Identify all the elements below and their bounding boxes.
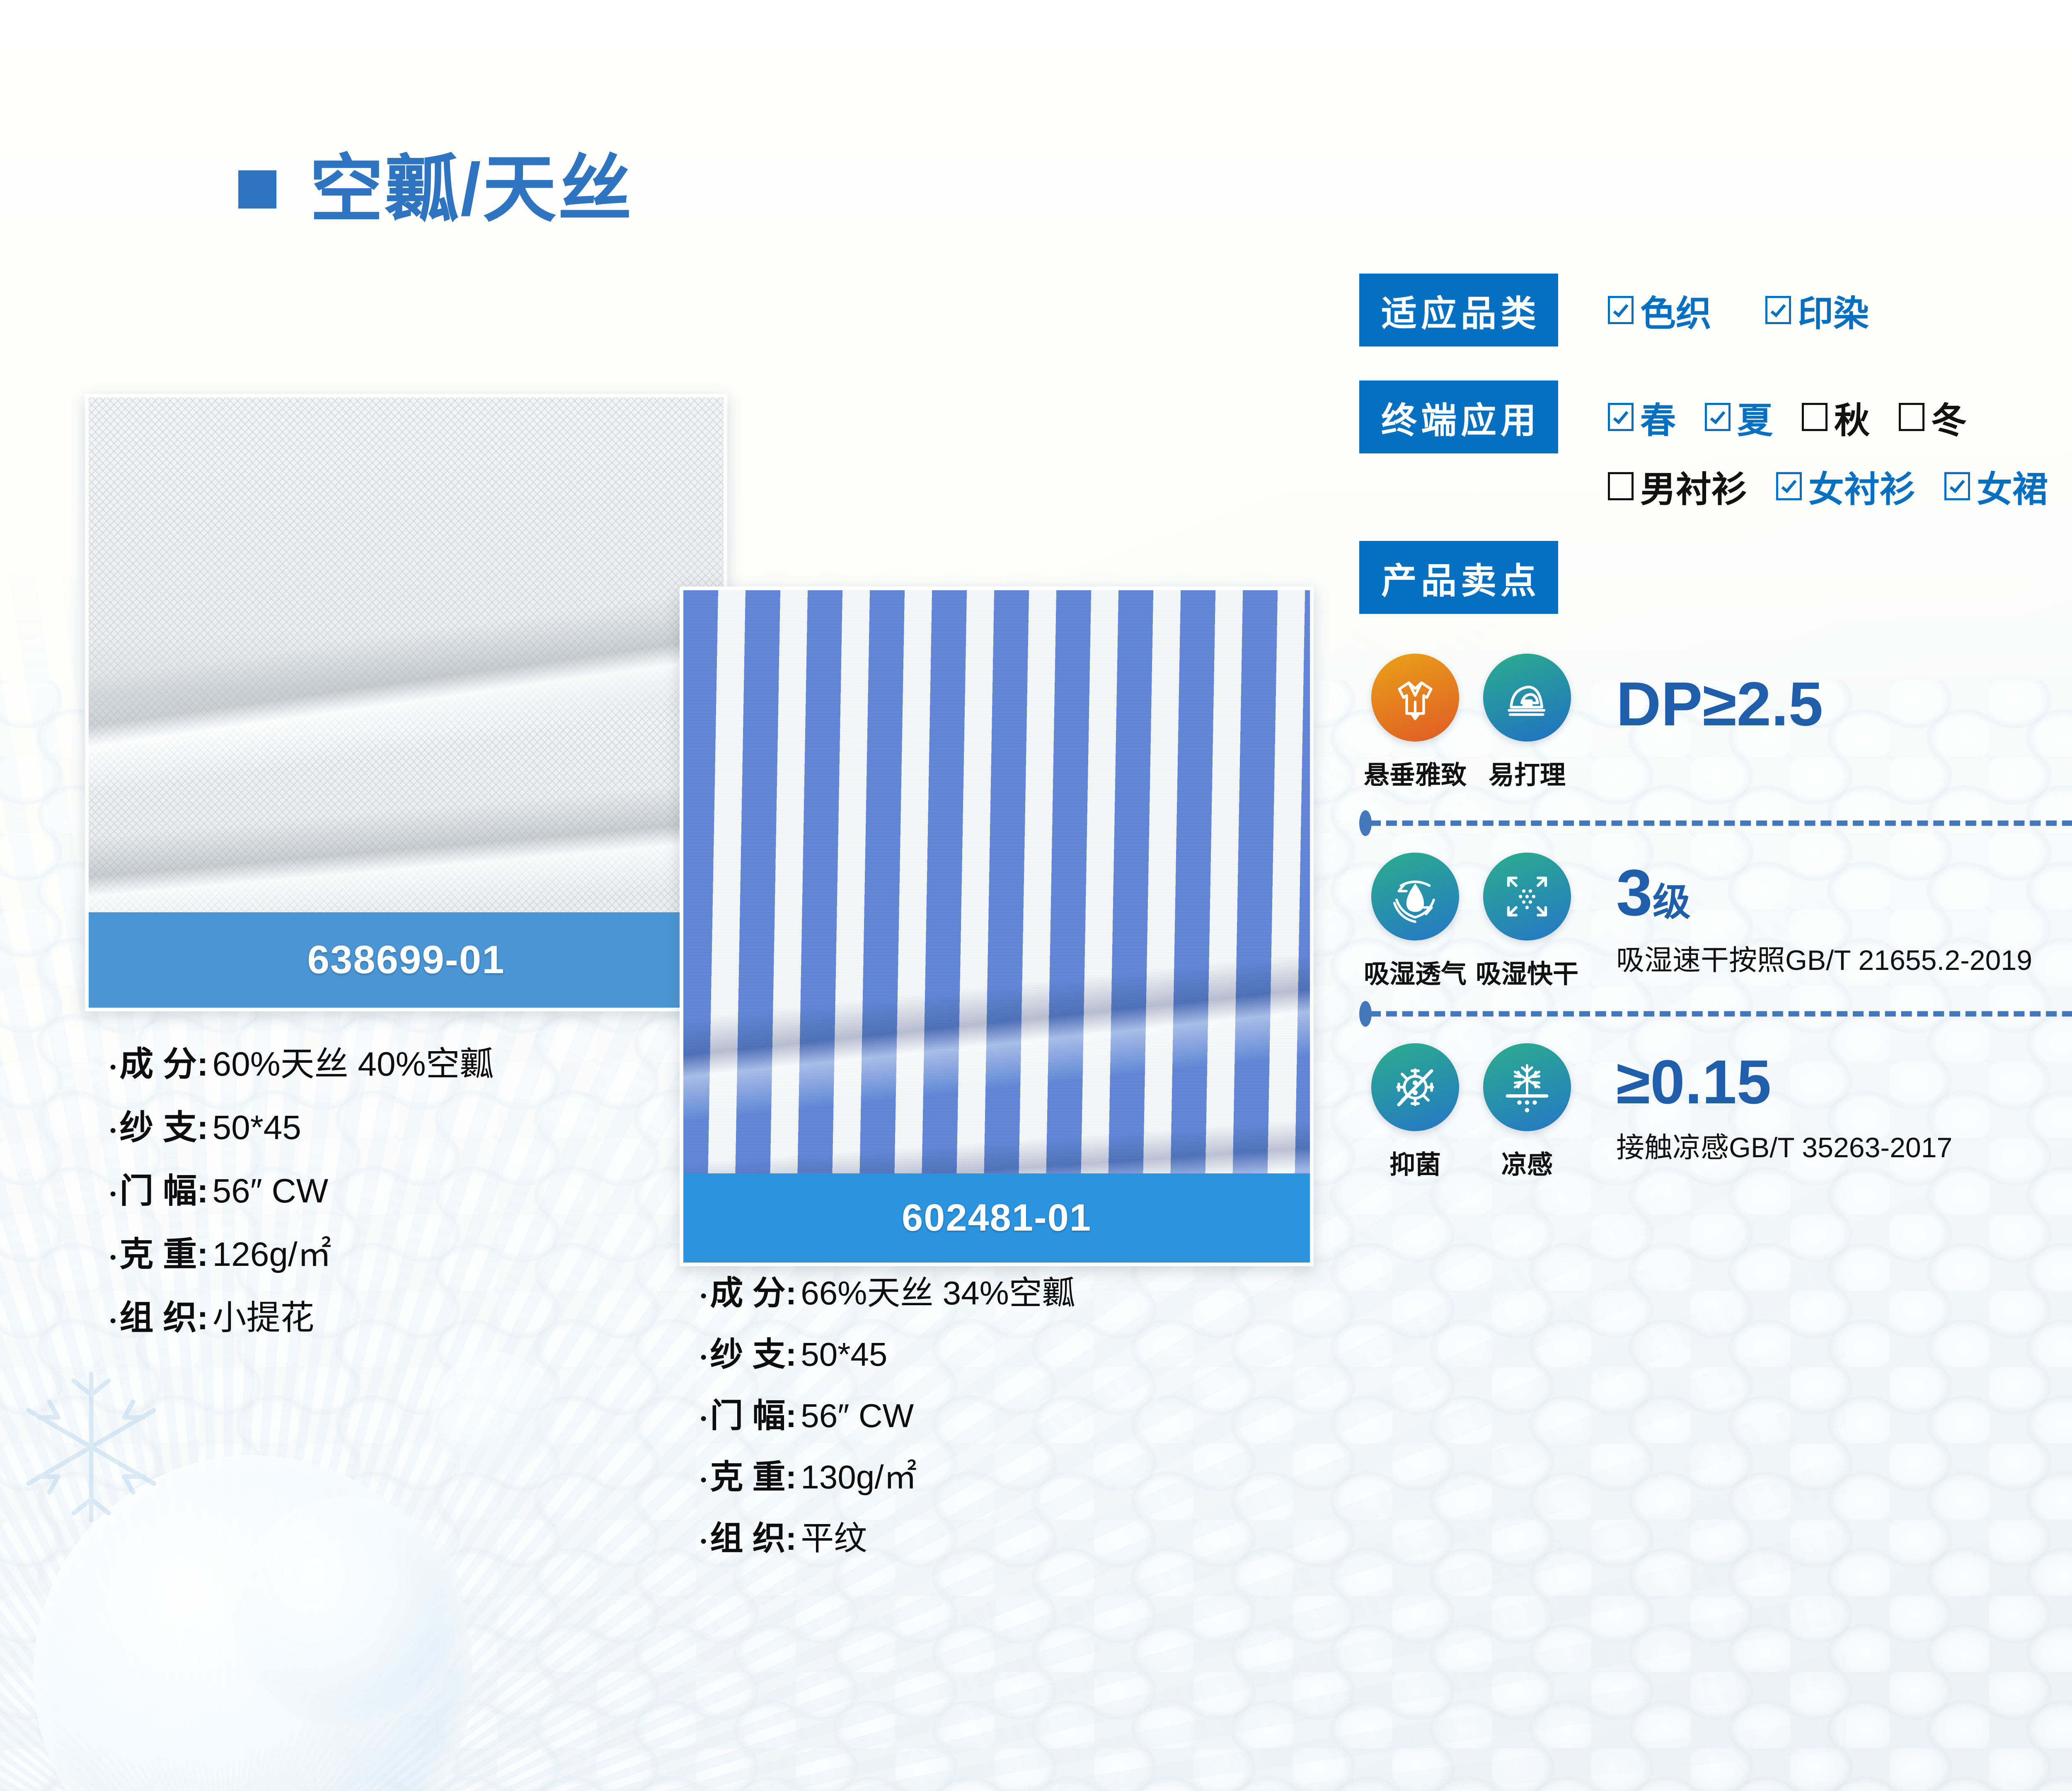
- spec-key: 纱 支:: [119, 1100, 208, 1149]
- feature-row: 抑菌: [1359, 1043, 2072, 1181]
- season-options: 春 夏 秋 冬: [1608, 380, 2048, 453]
- list-bullet-icon: •: [110, 1185, 116, 1203]
- checkbox-icon: [1608, 472, 1634, 500]
- spec-key: 门 幅:: [710, 1389, 796, 1437]
- swatch-code: 602481-01: [902, 1196, 1092, 1240]
- selling-points-section: 产品卖点 悬垂雅致: [1359, 541, 2072, 1181]
- option-label: 印染: [1798, 284, 1869, 336]
- checkbox-option-womens-shirt[interactable]: 女衬衫: [1776, 460, 1915, 512]
- spec-value: 56″ CW: [801, 1397, 914, 1435]
- square-bullet-icon: [238, 170, 276, 208]
- option-label: 夏: [1737, 391, 1773, 443]
- feature-metric: ≥0.15: [1616, 1051, 1952, 1113]
- swatch-card-2: 602481-01: [680, 586, 1314, 1266]
- feature-metric-unit: 级: [1653, 881, 1691, 923]
- feature-caption: 凉感: [1471, 1144, 1583, 1181]
- swatch-caption: 602481-01: [683, 1173, 1310, 1263]
- product-info-panel: 适应品类 色织 印染 终端应用 春 夏: [1359, 274, 2072, 1181]
- option-label: 男衬衫: [1640, 460, 1747, 512]
- option-label: 春: [1640, 391, 1676, 443]
- feature-icon-column: 吸湿快干: [1471, 853, 1583, 990]
- swatch-caption: 638699-01: [89, 912, 724, 1008]
- swatch-frame: 638699-01: [85, 394, 727, 1011]
- background-snowflake-icon: [4, 1360, 178, 1534]
- option-label: 秋: [1834, 391, 1870, 443]
- slide-header: 空瓤/天丝 LIANFA TEXTILE: [0, 0, 2072, 257]
- antibacterial-icon: [1371, 1043, 1459, 1131]
- checkbox-option-summer[interactable]: 夏: [1705, 391, 1773, 443]
- option-label: 冬: [1931, 391, 1967, 443]
- feature-standard: 吸湿速干按照GB/T 21655.2-2019: [1616, 937, 2032, 978]
- list-bullet-icon: •: [700, 1410, 707, 1428]
- moisture-breathable-icon: [1371, 853, 1459, 940]
- feature-icon-column: 吸湿透气: [1359, 853, 1471, 990]
- list-bullet-icon: •: [700, 1287, 707, 1305]
- spec-key: 门 幅:: [119, 1163, 208, 1212]
- spec-key: 成 分:: [119, 1036, 208, 1086]
- spec-value: 50*45: [213, 1108, 301, 1147]
- spec-key: 成 分:: [710, 1266, 796, 1314]
- divider-dash: [1370, 1011, 2072, 1017]
- background-bubble-small: [431, 1352, 555, 1476]
- checkbox-option-womens-skirt[interactable]: 女裙: [1944, 460, 2048, 512]
- checkbox-icon: [1802, 403, 1828, 431]
- feature-standard: 接触凉感GB/T 35263-2017: [1616, 1125, 1952, 1166]
- spec-key: 克 重:: [710, 1450, 796, 1498]
- quick-dry-icon: [1483, 853, 1571, 940]
- spec-row: • 纱 支: 50*45: [700, 1328, 1363, 1376]
- feature-metric-value: 3: [1616, 856, 1653, 929]
- feature-icon-column: 易打理: [1471, 654, 1583, 791]
- spec-key: 克 重:: [119, 1226, 208, 1276]
- spec-value: 平纹: [801, 1512, 867, 1560]
- blue-stripe-fabric-photo: [683, 590, 1310, 1263]
- list-bullet-icon: •: [700, 1532, 707, 1551]
- feature-row: 悬垂雅致 易打理 DP≥2.5: [1359, 654, 2072, 791]
- cool-touch-snowflake-icon: [1483, 1043, 1571, 1131]
- checkbox-icon: [1765, 296, 1791, 324]
- feature-icon-column: 凉感: [1471, 1043, 1583, 1181]
- spec-list-2: • 成 分: 66%天丝 34%空瓤 • 纱 支: 50*45 • 门 幅: 5…: [700, 1266, 1363, 1560]
- spec-row: • 门 幅: 56″ CW: [700, 1389, 1363, 1437]
- spec-row: • 组 织: 平纹: [700, 1512, 1363, 1560]
- spec-value: 60%天丝 40%空瓤: [213, 1036, 494, 1086]
- feature-row: 吸湿透气: [1359, 853, 2072, 990]
- spec-list-1: • 成 分: 60%天丝 40%空瓤 • 纱 支: 50*45 • 门 幅: 5…: [110, 1036, 773, 1339]
- checkbox-option-yarn-dyed[interactable]: 色织: [1608, 284, 1711, 336]
- feature-metric-column: 3级 吸湿速干按照GB/T 21655.2-2019: [1616, 853, 2032, 978]
- section-divider: [1359, 1008, 2072, 1019]
- category-section: 适应品类 色织 印染: [1359, 274, 2072, 347]
- list-bullet-icon: •: [110, 1312, 116, 1330]
- feature-caption: 吸湿快干: [1471, 953, 1583, 990]
- checkbox-option-printed[interactable]: 印染: [1765, 284, 1869, 336]
- spec-value: 130g/㎡: [801, 1450, 917, 1498]
- swatch-code: 638699-01: [307, 937, 505, 983]
- swatch-frame: 602481-01: [680, 586, 1314, 1266]
- feature-caption: 易打理: [1471, 754, 1583, 791]
- hanging-shirt-drape-icon: [1371, 654, 1459, 742]
- spec-value: 126g/㎡: [213, 1226, 332, 1276]
- spec-row: • 门 幅: 56″ CW: [110, 1163, 773, 1212]
- iron-easy-care-icon: [1483, 654, 1571, 742]
- checkbox-icon: [1899, 403, 1924, 431]
- checkbox-icon: [1608, 296, 1634, 324]
- spec-row: • 成 分: 66%天丝 34%空瓤: [700, 1266, 1363, 1314]
- checkbox-icon: [1944, 472, 1970, 500]
- spec-row: • 克 重: 126g/㎡: [110, 1226, 773, 1276]
- feature-caption: 抑菌: [1359, 1144, 1471, 1181]
- spec-value: 小提花: [213, 1290, 315, 1339]
- list-bullet-icon: •: [700, 1348, 707, 1367]
- checkbox-option-spring[interactable]: 春: [1608, 391, 1676, 443]
- feature-icon-column: 抑菌: [1359, 1043, 1471, 1181]
- option-label: 女裙: [1977, 460, 2048, 512]
- title-group: 空瓤/天丝: [238, 153, 633, 226]
- divider-dash: [1370, 821, 2072, 826]
- page-title: 空瓤/天丝: [310, 153, 633, 226]
- checkbox-icon: [1705, 403, 1731, 431]
- spec-row: • 克 重: 130g/㎡: [700, 1450, 1363, 1498]
- background-bubble-medium: [232, 1497, 464, 1729]
- spec-value: 66%天丝 34%空瓤: [801, 1266, 1075, 1314]
- checkbox-option-autumn[interactable]: 秋: [1802, 391, 1870, 443]
- spec-key: 纱 支:: [710, 1328, 796, 1376]
- application-tag: 终端应用: [1359, 380, 1558, 453]
- spec-row: • 组 织: 小提花: [110, 1290, 773, 1339]
- feature-icon-column: 悬垂雅致: [1359, 654, 1471, 791]
- checkbox-icon: [1776, 472, 1802, 500]
- spec-value: 56″ CW: [213, 1172, 329, 1211]
- checkbox-icon: [1608, 403, 1634, 431]
- category-options: 色织 印染: [1608, 284, 1869, 336]
- garment-options: 男衬衫 女衬衫 女裙: [1608, 460, 2048, 512]
- feature-metric: DP≥2.5: [1616, 673, 1823, 735]
- feature-metric-column: ≥0.15 接触凉感GB/T 35263-2017: [1616, 1043, 1952, 1166]
- category-tag: 适应品类: [1359, 274, 1558, 347]
- feature-metric: 3级: [1616, 860, 2032, 926]
- spec-row: • 成 分: 60%天丝 40%空瓤: [110, 1036, 773, 1086]
- spec-row: • 纱 支: 50*45: [110, 1100, 773, 1149]
- option-label: 色织: [1640, 284, 1711, 336]
- selling-points-tag: 产品卖点: [1359, 541, 1558, 614]
- section-divider: [1359, 818, 2072, 829]
- spec-value: 50*45: [801, 1335, 887, 1374]
- spec-key: 组 织:: [710, 1512, 796, 1560]
- checkbox-option-winter[interactable]: 冬: [1899, 391, 1967, 443]
- list-bullet-icon: •: [110, 1058, 116, 1076]
- list-bullet-icon: •: [110, 1248, 116, 1267]
- feature-metric-column: DP≥2.5: [1616, 654, 1823, 735]
- feature-caption: 吸湿透气: [1359, 953, 1471, 990]
- swatch-card-1: 638699-01: [85, 394, 727, 1011]
- feature-caption: 悬垂雅致: [1359, 754, 1471, 791]
- option-label: 女衬衫: [1808, 460, 1915, 512]
- list-bullet-icon: •: [700, 1471, 707, 1489]
- list-bullet-icon: •: [110, 1122, 116, 1140]
- application-section: 终端应用 春 夏 秋 冬: [1359, 380, 2072, 512]
- checkbox-option-mens-shirt[interactable]: 男衬衫: [1608, 460, 1747, 512]
- spec-key: 组 织:: [119, 1290, 208, 1339]
